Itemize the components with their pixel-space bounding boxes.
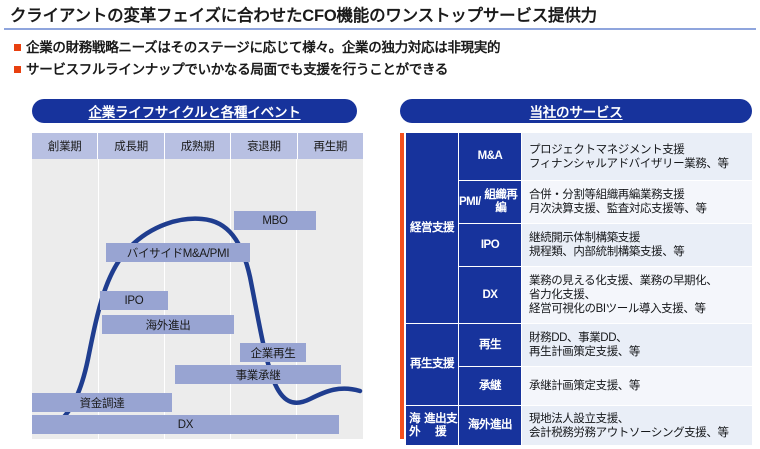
service-label-ipo: IPO: [459, 224, 521, 266]
event-box-dx: DX: [32, 415, 339, 434]
service-label-succession: 承継: [459, 367, 521, 405]
service-details-revitalization: 財務DD、事業DD、再生計画策定支援、等: [522, 324, 752, 366]
chart-plot-area: MBO バイサイドM&A/PMI IPO 海外進出 企業再生 事業承継 資金調達…: [32, 159, 363, 439]
service-label-ma: M&A: [459, 133, 521, 180]
phase-header-row: 創業期 成長期 成熟期 衰退期 再生期: [32, 133, 363, 159]
phase-label: 創業期: [32, 133, 98, 159]
service-details-overseas: 現地法人設立支援、会計税務労務アウトソーシング支援、等: [522, 406, 752, 445]
list-item: サービスフルラインナップでいかなる局面でも支援を行うことができる: [14, 60, 500, 82]
service-label-dx: DX: [459, 267, 521, 323]
lifecycle-chart: 創業期 成長期 成熟期 衰退期 再生期 MBO バイサイドM&A/PMI IPO…: [32, 133, 363, 439]
group-label-management-support: 経営支援: [406, 133, 458, 323]
left-panel-heading: 企業ライフサイクルと各種イベント: [32, 99, 357, 123]
right-panel-heading: 当社のサービス: [400, 99, 752, 123]
event-box-ipo: IPO: [100, 291, 168, 310]
phase-label: 成長期: [98, 133, 164, 159]
square-bullet-icon: [14, 44, 21, 51]
title-divider: [4, 28, 756, 30]
event-box-succession: 事業承継: [175, 365, 341, 384]
phase-label: 成熟期: [165, 133, 231, 159]
bullet-text: サービスフルラインナップでいかなる局面でも支援を行うことができる: [26, 60, 448, 80]
service-details-succession: 承継計画策定支援、等: [522, 367, 752, 405]
service-label-revitalization: 再生: [459, 324, 521, 366]
service-details-ipo: 継続開示体制構築支援規程類、内部統制構築支援、等: [522, 224, 752, 266]
event-box-fundraising: 資金調達: [32, 393, 172, 412]
event-box-buyside-ma-pmi: バイサイドM&A/PMI: [106, 243, 250, 262]
group-label-revitalization-support: 再生支援: [406, 324, 458, 405]
accent-bar: [400, 133, 404, 439]
group-label-overseas-support: 海外進出支援: [406, 406, 458, 445]
service-details-dx: 業務の見える化支援、業務の早期化、省力化支援、経営可視化のBIツール導入支援、等: [522, 267, 752, 323]
service-details-pmi: 合併・分割等組織再編業務支援月次決算支援、監査対応支援等、等: [522, 181, 752, 223]
page-title: クライアントの変革フェイズに合わせたCFO機能のワンストップサービス提供力: [10, 2, 597, 26]
bullet-list: 企業の財務戦略ニーズはそのステージに応じて様々。企業の独力対応は非現実的 サービ…: [14, 38, 500, 82]
event-box-mbo: MBO: [234, 211, 316, 230]
service-label-overseas: 海外進出: [459, 406, 521, 445]
slide: クライアントの変革フェイズに合わせたCFO機能のワンストップサービス提供力 企業…: [0, 0, 760, 449]
event-box-overseas: 海外進出: [102, 315, 234, 334]
services-table: 経営支援 M&A プロジェクトマネジメント支援フィナンシャルアドバイザリー業務、…: [400, 133, 752, 439]
bullet-text: 企業の財務戦略ニーズはそのステージに応じて様々。企業の独力対応は非現実的: [26, 38, 500, 58]
service-details-ma: プロジェクトマネジメント支援フィナンシャルアドバイザリー業務、等: [522, 133, 752, 180]
event-box-revitalization: 企業再生: [240, 343, 306, 362]
services-grid: 経営支援 M&A プロジェクトマネジメント支援フィナンシャルアドバイザリー業務、…: [406, 133, 752, 439]
phase-label: 衰退期: [231, 133, 297, 159]
service-label-pmi: PMI/組織再編: [459, 181, 521, 223]
phase-label: 再生期: [298, 133, 363, 159]
square-bullet-icon: [14, 66, 21, 73]
list-item: 企業の財務戦略ニーズはそのステージに応じて様々。企業の独力対応は非現実的: [14, 38, 500, 60]
